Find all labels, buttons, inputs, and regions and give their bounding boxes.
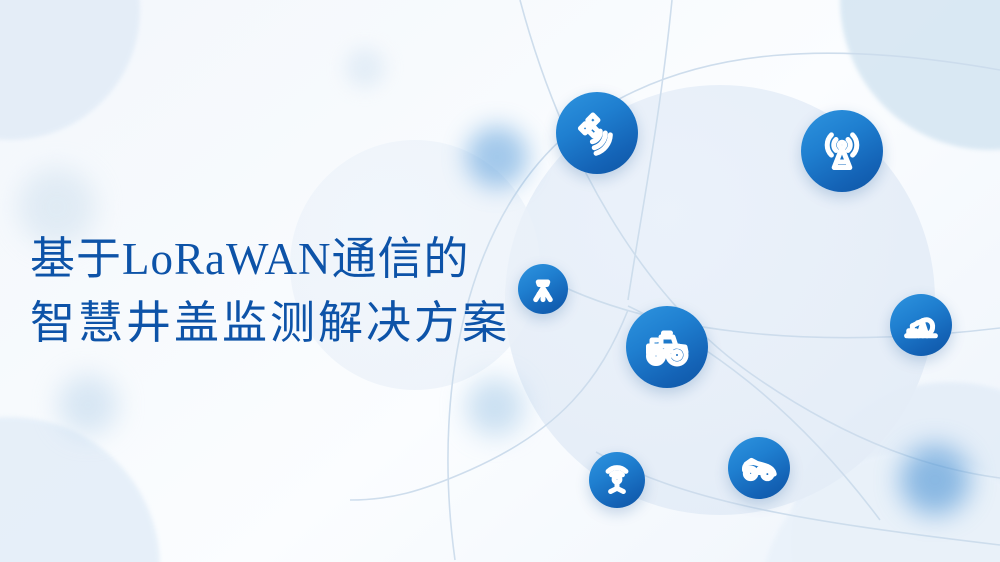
orbit-path-2 (520, 0, 1000, 478)
radio-tower-icon (819, 128, 865, 174)
tractor-icon (642, 322, 692, 372)
title-line-2: 智慧井盖监测解决方案 (30, 292, 560, 356)
node-mower[interactable] (728, 437, 790, 499)
node-tractor[interactable] (626, 306, 708, 388)
signal-beacon-icon (601, 464, 633, 496)
slide-title: 基于LoRaWAN通信的 智慧井盖监测解决方案 (30, 228, 560, 356)
node-antenna[interactable] (801, 110, 883, 192)
lawn-mower-icon (740, 449, 778, 487)
slide-canvas: 基于LoRaWAN通信的 智慧井盖监测解决方案 (0, 0, 1000, 562)
survey-tripod-icon (529, 275, 557, 303)
satellite-icon (574, 110, 620, 156)
node-satellite[interactable] (556, 92, 638, 174)
node-tripod[interactable] (518, 264, 568, 314)
orbit-path-7 (628, 0, 672, 300)
node-beacon[interactable] (589, 452, 645, 508)
node-pumpjack[interactable] (890, 294, 952, 356)
oil-pumpjack-icon (903, 307, 939, 343)
title-line-1: 基于LoRaWAN通信的 (30, 228, 560, 292)
